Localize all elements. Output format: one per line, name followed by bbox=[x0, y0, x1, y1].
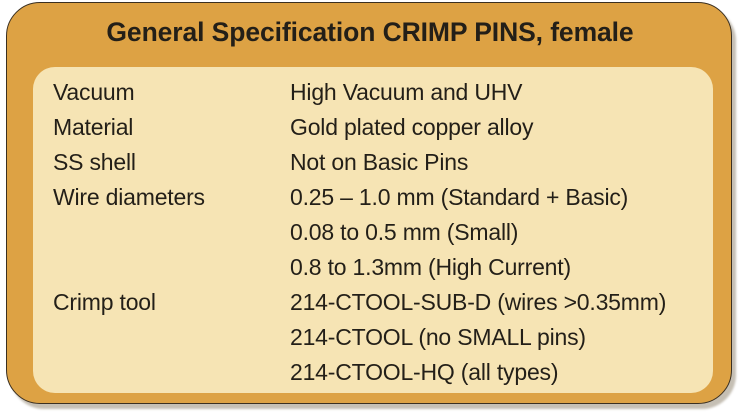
spec-value: 214-CTOOL (no SMALL pins) bbox=[290, 320, 586, 355]
table-row: SS shellNot on Basic Pins bbox=[33, 145, 713, 180]
specification-panel: VacuumHigh Vacuum and UHVMaterialGold pl… bbox=[33, 67, 713, 393]
spec-value: High Vacuum and UHV bbox=[290, 75, 522, 110]
spec-value: Not on Basic Pins bbox=[290, 145, 468, 180]
spec-value: 0.08 to 0.5 mm (Small) bbox=[290, 215, 518, 250]
spec-label: Vacuum bbox=[53, 75, 134, 110]
table-row: MaterialGold plated copper alloy bbox=[33, 110, 713, 145]
specification-table: VacuumHigh Vacuum and UHVMaterialGold pl… bbox=[33, 67, 713, 393]
table-row: Wire diameters0.25 – 1.0 mm (Standard + … bbox=[33, 180, 713, 215]
spec-value: 214-CTOOL-HQ (all types) bbox=[290, 355, 558, 390]
spec-label: Wire diameters bbox=[53, 180, 205, 215]
spec-value: 214-CTOOL-SUB-D (wires >0.35mm) bbox=[290, 285, 666, 320]
spec-label: Crimp tool bbox=[53, 285, 156, 320]
table-row: VacuumHigh Vacuum and UHV bbox=[33, 75, 713, 110]
table-row: 214-CTOOL (no SMALL pins) bbox=[33, 320, 713, 355]
table-row: 0.8 to 1.3mm (High Current) bbox=[33, 250, 713, 285]
spec-value: 0.25 – 1.0 mm (Standard + Basic) bbox=[290, 180, 628, 215]
table-row: 214-CTOOL-HQ (all types) bbox=[33, 355, 713, 390]
spec-label: Material bbox=[53, 110, 133, 145]
page-title: General Specification CRIMP PINS, female bbox=[7, 17, 733, 48]
table-row: Crimp tool214-CTOOL-SUB-D (wires >0.35mm… bbox=[33, 285, 713, 320]
table-row: 0.08 to 0.5 mm (Small) bbox=[33, 215, 713, 250]
spec-value: 0.8 to 1.3mm (High Current) bbox=[290, 250, 571, 285]
spec-label: SS shell bbox=[53, 145, 136, 180]
specification-card: General Specification CRIMP PINS, female… bbox=[6, 2, 732, 404]
spec-value: Gold plated copper alloy bbox=[290, 110, 533, 145]
